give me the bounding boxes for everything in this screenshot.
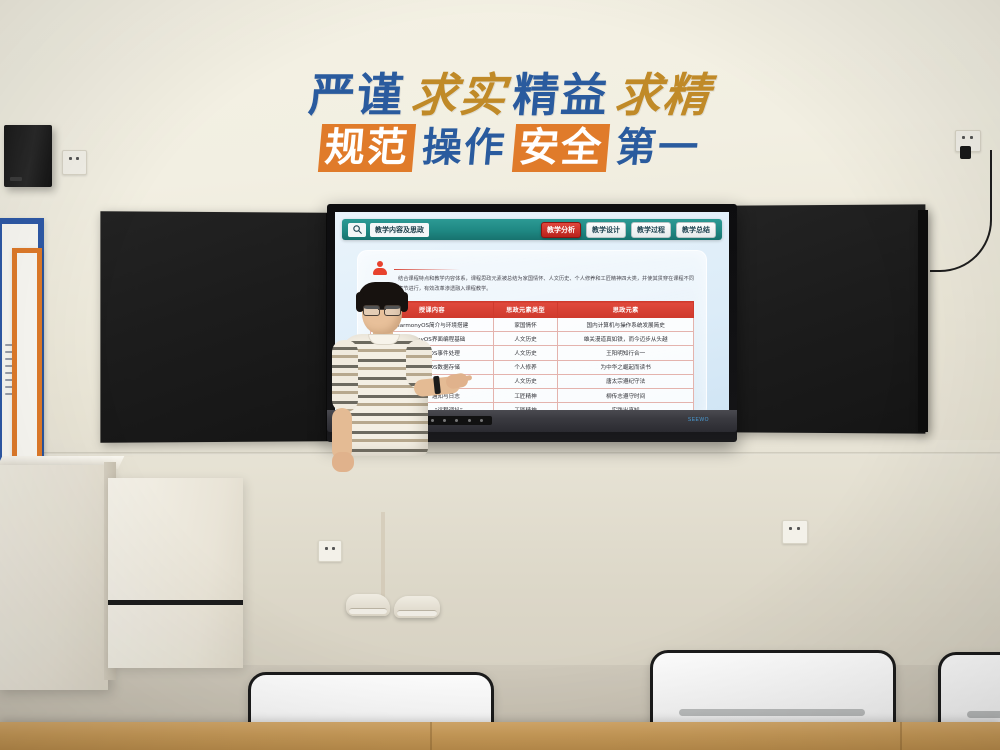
col-header-element: 思政元素 [558, 302, 694, 318]
white-cabinet [108, 478, 243, 668]
presenter-sleeve-left [332, 340, 358, 412]
blackboard-panel-left [100, 211, 328, 443]
cell-element: 唐太宗遵纪守法 [558, 374, 694, 388]
wooden-desk [0, 722, 1000, 750]
slogan-line-2: 规范 操作 安全 第一 [320, 124, 700, 172]
cell-type: 人文历史 [493, 332, 558, 346]
cell-type: 人文历史 [493, 374, 558, 388]
classroom-photo: 严谨 求实 精益 求精 规范 操作 安全 第一 [0, 0, 1000, 750]
slide-topbar: 教学内容及思政 教学分析 教学设计 教学过程 教学总结 [342, 219, 722, 240]
col-header-type: 思政元素类型 [493, 302, 558, 318]
presenter-shoe-left [346, 594, 390, 616]
tab-jiaoxuefenxi[interactable]: 教学分析 [541, 222, 581, 238]
slogan-word-4: 求精 [613, 72, 713, 118]
white-podium [0, 465, 108, 690]
slogan-word-1: 严谨 [307, 72, 407, 118]
cell-element: 雄关漫道真如铁，而今迈步从头越 [558, 332, 694, 346]
card-divider [394, 269, 460, 270]
cell-element: 为中华之崛起而读书 [558, 360, 694, 374]
poster-orange-border [12, 248, 42, 470]
cell-type: 家国情怀 [493, 318, 558, 332]
slogan-word-6: 操作 [420, 128, 507, 168]
blackboard-panel-right-edge [918, 210, 928, 432]
person-icon [372, 261, 388, 277]
slide-tabs: 教学分析 教学设计 教学过程 教学总结 [541, 222, 716, 238]
presenter-shoe-right [394, 596, 440, 618]
display-brand-logo: SEEWO [688, 417, 709, 423]
blackboard-panel-right [734, 204, 926, 433]
presenter-pants-gap [381, 512, 385, 600]
tab-jiaoxueguocheng[interactable]: 教学过程 [631, 222, 671, 238]
slide-section-label: 教学内容及思政 [370, 223, 429, 237]
cabinet-shadow-line [108, 600, 243, 605]
cell-type: 个人修养 [493, 360, 558, 374]
cell-element: 王阳明知行合一 [558, 346, 694, 360]
search-icon[interactable] [348, 223, 366, 237]
slogan-line-1: 严谨 求实 精益 求精 [309, 72, 711, 118]
tab-jiaoxuezongjie[interactable]: 教学总结 [676, 222, 716, 238]
desk-seam-1 [430, 722, 432, 750]
cell-type: 工匠精神 [493, 388, 558, 402]
wall-slogan: 严谨 求实 精益 求精 规范 操作 安全 第一 [150, 52, 870, 192]
outlet-center-right[interactable] [782, 520, 808, 544]
wall-speaker [4, 125, 52, 187]
slogan-word-8: 第一 [614, 128, 701, 168]
presenter [318, 282, 468, 642]
desk-seam-2 [900, 722, 902, 750]
slogan-word-3: 精益 [511, 72, 611, 118]
wall-seam [0, 452, 1000, 455]
cell-element: 国内计算机与操作系统发展简史 [558, 318, 694, 332]
slogan-word-2: 求实 [409, 72, 509, 118]
slogan-word-7: 安全 [512, 124, 610, 172]
slogan-word-5: 规范 [318, 124, 416, 172]
tab-jiaoxueshji[interactable]: 教学设计 [586, 222, 626, 238]
cell-type: 人文历史 [493, 346, 558, 360]
outlet-left[interactable] [62, 150, 87, 175]
glasses-icon [362, 305, 402, 315]
cell-element: 柳传志遵守时间 [558, 388, 694, 402]
